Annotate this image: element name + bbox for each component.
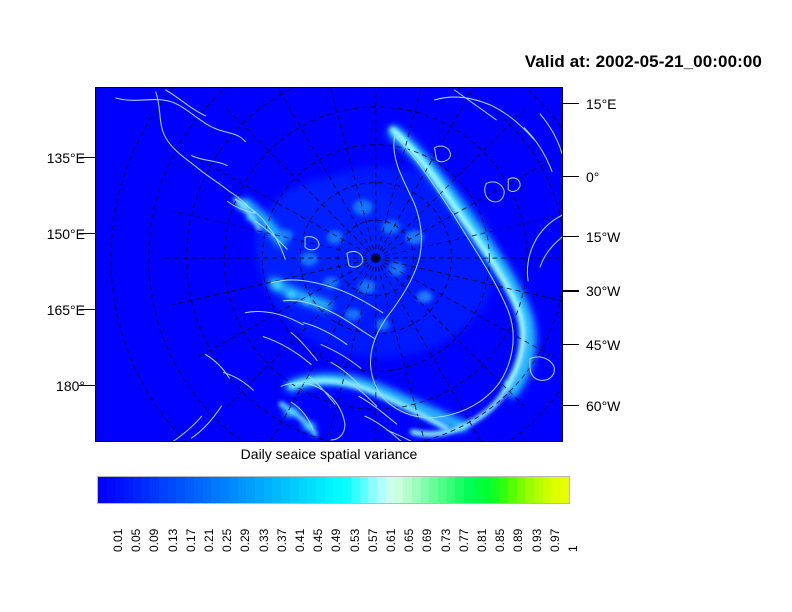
map-plot-area[interactable] [95,87,563,442]
colorbar-tick-label: 0.77 [457,529,471,552]
colorbar-tick-label: 1 [566,545,580,552]
axis-tick-right-3 [563,290,579,292]
axis-tick-left-1 [79,233,95,234]
colorbar-tick-label: 0.37 [275,529,289,552]
colorbar-swatch [429,477,438,503]
colorbar-swatch [403,477,412,503]
axis-label-left-2: 165°E [47,302,85,318]
colorbar-swatch [238,477,247,503]
colorbar-tick-label: 0.65 [402,529,416,552]
colorbar-swatch [342,477,351,503]
colorbar-tick-labels: 0.010.050.090.130.170.210.250.290.330.37… [97,508,570,568]
axis-tick-right-1 [563,176,579,177]
colorbar-swatch [455,477,464,503]
colorbar-tick-label: 0.93 [530,529,544,552]
colorbar-gradient [97,476,570,504]
colorbar-swatch [412,477,421,503]
colorbar-swatch [107,477,116,503]
axis-tick-right-0 [563,103,579,104]
map-svg [96,88,562,441]
axis-label-right-2: 15°W [586,229,620,245]
colorbar-tick-label: 0.45 [311,529,325,552]
colorbar-tick-label: 0.09 [147,529,161,552]
colorbar-tick-label: 0.41 [293,529,307,552]
colorbar-tick-label: 0.61 [384,529,398,552]
colorbar-swatch [229,477,238,503]
colorbar-swatch [394,477,403,503]
axis-label-left-0: 135°E [47,150,85,166]
axis-tick-right-4 [563,344,579,345]
colorbar-tick-label: 0.05 [129,529,143,552]
axis-label-right-3: 30°W [586,283,620,299]
colorbar-swatch [534,477,543,503]
colorbar-tick-label: 0.17 [184,529,198,552]
colorbar-swatch [464,477,473,503]
colorbar-swatch [203,477,212,503]
colorbar-swatch [246,477,255,503]
colorbar-swatch [499,477,508,503]
colorbar-tick-label: 0.57 [366,529,380,552]
axis-label-right-0: 15°E [586,96,617,112]
colorbar-tick-label: 0.29 [238,529,252,552]
colorbar-swatch [560,477,569,503]
figure-canvas: Valid at: 2002-05-21_00:00:00 135°E 150°… [0,0,792,612]
colorbar-swatch [211,477,220,503]
colorbar-swatch [368,477,377,503]
colorbar-tick-label: 0.73 [439,529,453,552]
colorbar-swatch [438,477,447,503]
colorbar-swatch [490,477,499,503]
colorbar-tick-label: 0.53 [348,529,362,552]
colorbar-swatch [473,477,482,503]
colorbar-swatch [307,477,316,503]
axis-label-left-1: 150°E [47,226,85,242]
axis-tick-left-2 [79,309,95,310]
axis-label-right-5: 60°W [586,398,620,414]
north-pole-marker [374,256,377,259]
colorbar-swatch [176,477,185,503]
colorbar-swatch [351,477,360,503]
colorbar-swatch [281,477,290,503]
colorbar-tick-label: 0.97 [548,529,562,552]
axis-label-left-3: 180° [56,378,85,394]
colorbar-tick-label: 0.49 [329,529,343,552]
colorbar-swatch [551,477,560,503]
colorbar[interactable] [97,476,570,504]
axis-tick-left-3 [79,385,95,386]
colorbar-swatch [194,477,203,503]
colorbar-tick-label: 0.13 [166,529,180,552]
page-title: Valid at: 2002-05-21_00:00:00 [525,52,762,72]
plot-caption: Daily seaice spatial variance [95,446,563,462]
colorbar-swatch [142,477,151,503]
colorbar-swatch [333,477,342,503]
colorbar-swatch [543,477,552,503]
colorbar-swatch [517,477,526,503]
colorbar-swatch [159,477,168,503]
colorbar-swatch [525,477,534,503]
colorbar-tick-label: 0.81 [475,529,489,552]
colorbar-swatch [185,477,194,503]
colorbar-swatch [124,477,133,503]
colorbar-swatch [482,477,491,503]
colorbar-swatch [264,477,273,503]
colorbar-tick-label: 0.89 [511,529,525,552]
colorbar-swatch [421,477,430,503]
colorbar-swatch [220,477,229,503]
colorbar-swatch [447,477,456,503]
colorbar-swatch [386,477,395,503]
colorbar-tick-label: 0.69 [420,529,434,552]
colorbar-swatch [316,477,325,503]
colorbar-swatch [360,477,369,503]
axis-tick-left-0 [79,157,95,158]
colorbar-tick-label: 0.33 [257,529,271,552]
colorbar-swatch [508,477,517,503]
axis-tick-right-2 [563,236,579,237]
colorbar-swatch [133,477,142,503]
colorbar-swatch [272,477,281,503]
colorbar-tick-label: 0.85 [493,529,507,552]
axis-tick-right-5 [563,405,579,406]
axis-label-right-1: 0° [586,169,599,185]
colorbar-tick-label: 0.25 [220,529,234,552]
colorbar-swatch [290,477,299,503]
colorbar-swatch [255,477,264,503]
colorbar-swatch [168,477,177,503]
colorbar-tick-label: 0.01 [111,529,125,552]
colorbar-swatch [325,477,334,503]
colorbar-tick-label: 0.21 [202,529,216,552]
colorbar-swatch [150,477,159,503]
colorbar-swatch [115,477,124,503]
colorbar-swatch [98,477,107,503]
colorbar-swatch [377,477,386,503]
colorbar-swatch [299,477,308,503]
axis-label-right-4: 45°W [586,337,620,353]
